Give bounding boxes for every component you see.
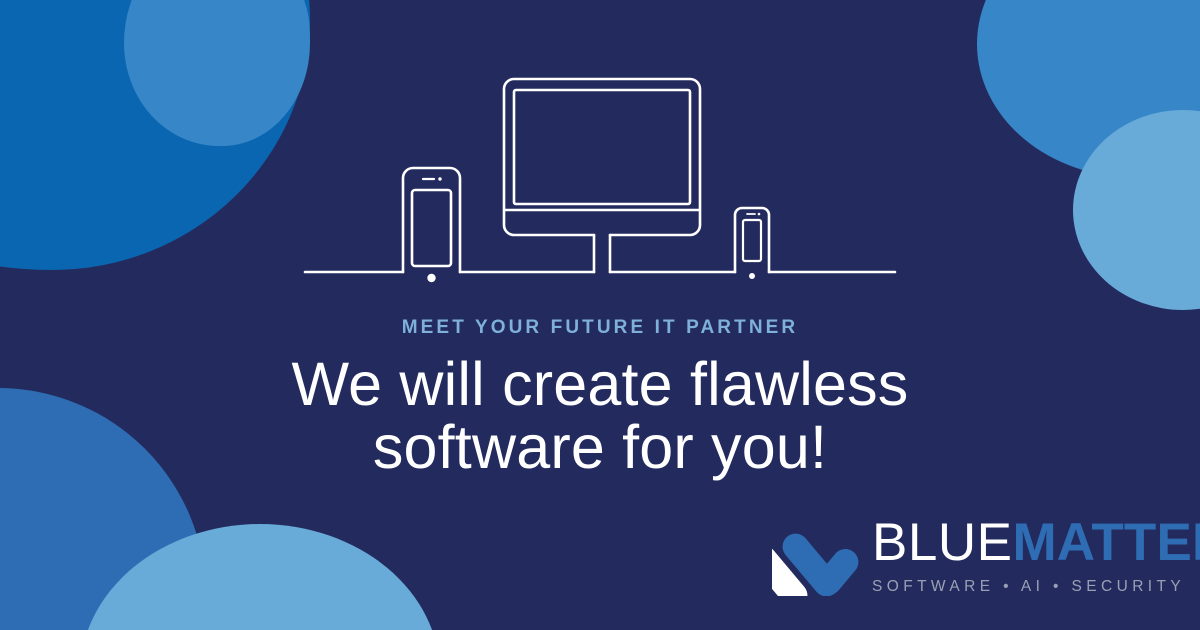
headline-line-1: We will create flawless: [0, 353, 1200, 416]
phone-left-home-button: [427, 274, 435, 282]
phone-right-screen: [743, 220, 761, 261]
logo-tagline: SOFTWARE • AI • SECURITY: [872, 578, 1152, 596]
monitor-shell: [504, 79, 700, 235]
phone-left-camera-icon: [438, 177, 441, 180]
headline-line-2: software for you!: [0, 416, 1200, 479]
phone-right-camera-icon: [758, 213, 761, 216]
devices-illustration: [0, 50, 1200, 290]
logo-word-matter: MATTER: [1012, 513, 1200, 572]
promo-banner: MEET YOUR FUTURE IT PARTNER We will crea…: [0, 0, 1200, 630]
bluematter-logo[interactable]: BLUEMATTER SOFTWARE • AI • SECURITY: [772, 516, 1152, 598]
blob-bottom-left-light: [80, 524, 440, 630]
phone-right-body: [735, 208, 769, 272]
kicker-eyebrow: MEET YOUR FUTURE IT PARTNER: [0, 318, 1200, 337]
phone-right-home-button: [749, 273, 755, 279]
copy-block: MEET YOUR FUTURE IT PARTNER We will crea…: [0, 318, 1200, 480]
logo-name: BLUEMATTER: [872, 516, 1152, 569]
bluematter-m-mark-icon: [772, 518, 864, 596]
monitor-screen: [514, 90, 690, 204]
logo-wordmark: BLUEMATTER SOFTWARE • AI • SECURITY: [872, 516, 1152, 596]
phone-left-screen: [412, 190, 451, 266]
logo-word-blue: BLUE: [872, 513, 1012, 572]
page-title: We will create flawless software for you…: [0, 353, 1200, 480]
